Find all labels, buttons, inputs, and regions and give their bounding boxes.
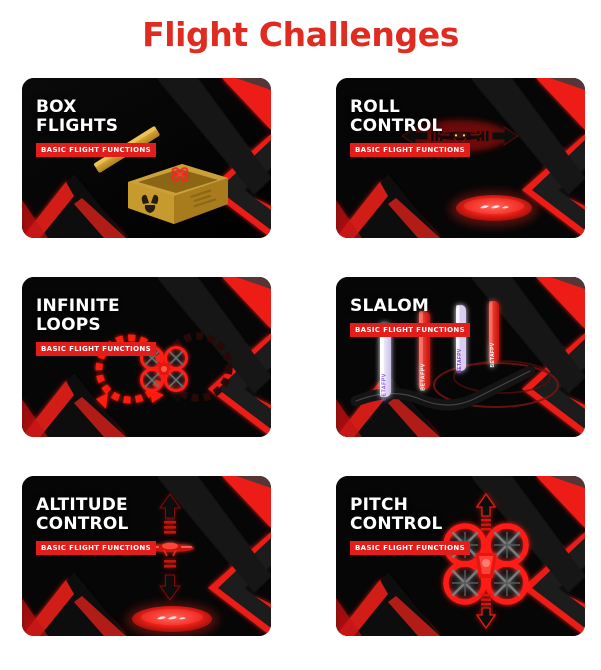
challenge-card-infinite-loops[interactable]: INFINITE LOOPS BASIC FLIGHT FUNCTIONS [22,277,271,437]
card-badge: BASIC FLIGHT FUNCTIONS [36,342,156,356]
card-text-block: INFINITE LOOPS BASIC FLIGHT FUNCTIONS [36,297,156,356]
card-badge: BASIC FLIGHT FUNCTIONS [350,541,470,555]
card-title: INFINITE LOOPS [36,297,156,335]
card-text-block: ALTITUDE CONTROL BASIC FLIGHT FUNCTIONS [36,496,156,555]
card-badge: BASIC FLIGHT FUNCTIONS [350,143,470,157]
card-badge: BASIC FLIGHT FUNCTIONS [350,323,470,337]
challenge-card-altitude-control[interactable]: ALTITUDE CONTROL BASIC FLIGHT FUNCTIONS [22,476,271,636]
svg-text:BETAFPV: BETAFPV [457,348,463,373]
challenge-card-roll-control[interactable]: ROLL CONTROL BASIC FLIGHT FUNCTIONS [336,78,585,238]
card-title: BOX FLIGHTS [36,98,156,136]
card-title: PITCH CONTROL [350,496,470,534]
card-text-block: SLALOM BASIC FLIGHT FUNCTIONS [350,297,470,337]
svg-text:BETAFPV: BETAFPV [421,363,427,391]
challenge-card-pitch-control[interactable]: PITCH CONTROL BASIC FLIGHT FUNCTIONS [336,476,585,636]
card-text-block: ROLL CONTROL BASIC FLIGHT FUNCTIONS [350,98,470,157]
card-text-block: PITCH CONTROL BASIC FLIGHT FUNCTIONS [350,496,470,555]
challenge-card-box-flights[interactable]: BOX FLIGHTS BASIC FLIGHT FUNCTIONS [22,78,271,238]
svg-text:BETAFPV: BETAFPV [490,342,496,367]
card-text-block: BOX FLIGHTS BASIC FLIGHT FUNCTIONS [36,98,156,157]
challenge-card-grid: BOX FLIGHTS BASIC FLIGHT FUNCTIONS [0,78,601,636]
challenge-card-slalom[interactable]: BETAFPV BETAFPV BETAFPV [336,277,585,437]
svg-text:BETAFPV: BETAFPV [382,373,388,401]
card-title: SLALOM [350,297,470,316]
flight-challenges-page: Flight Challenges [0,0,601,670]
card-badge: BASIC FLIGHT FUNCTIONS [36,143,156,157]
card-badge: BASIC FLIGHT FUNCTIONS [36,541,156,555]
page-title: Flight Challenges [0,0,601,56]
card-title: ALTITUDE CONTROL [36,496,156,534]
card-title: ROLL CONTROL [350,98,470,136]
